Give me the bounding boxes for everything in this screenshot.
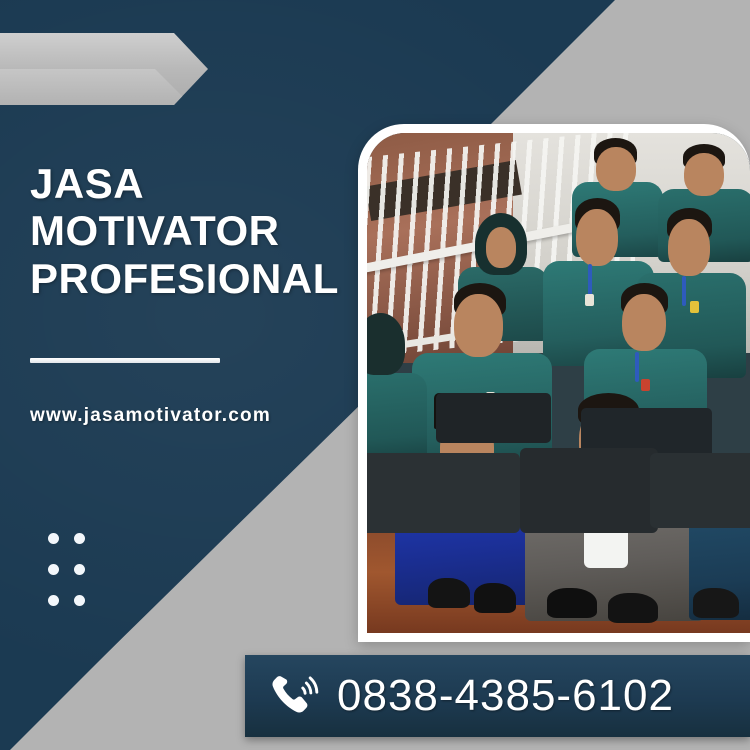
seminar-photo [367, 133, 750, 633]
contact-phone-bar[interactable]: 0838-4385-6102 [245, 655, 750, 737]
top-left-chevron-banner [0, 33, 208, 105]
photo-card [358, 124, 750, 642]
photo-seat-row-front-left [367, 453, 520, 533]
photo-shoe-3 [547, 588, 597, 618]
dot [48, 595, 59, 606]
dot-grid-decoration [48, 533, 85, 606]
photo-seat-row-mid-left [436, 393, 551, 443]
dot [48, 564, 59, 575]
photo-person-left-edge [367, 313, 413, 443]
photo-seat-row-front-right [650, 453, 750, 528]
photo-seat-row-front-mid [520, 448, 658, 533]
headline-line-3: PROFESIONAL [30, 255, 360, 302]
photo-shoe-4 [608, 593, 658, 623]
page-title: JASA MOTIVATOR PROFESIONAL [30, 160, 360, 302]
photo-shoe-2 [474, 583, 516, 613]
dot [74, 595, 85, 606]
photo-shoe-5 [693, 588, 739, 618]
divider-rule [30, 358, 220, 363]
dot [74, 564, 85, 575]
headline-line-1: JASA [30, 160, 360, 207]
phone-ringing-icon [269, 669, 323, 723]
dot [48, 533, 59, 544]
dot [74, 533, 85, 544]
headline-line-2: MOTIVATOR [30, 207, 360, 254]
photo-shoe-1 [428, 578, 470, 608]
phone-number[interactable]: 0838-4385-6102 [337, 671, 674, 721]
website-url[interactable]: www.jasamotivator.com [30, 405, 271, 427]
poster-canvas: JASA MOTIVATOR PROFESIONAL www.jasamotiv… [0, 0, 750, 750]
